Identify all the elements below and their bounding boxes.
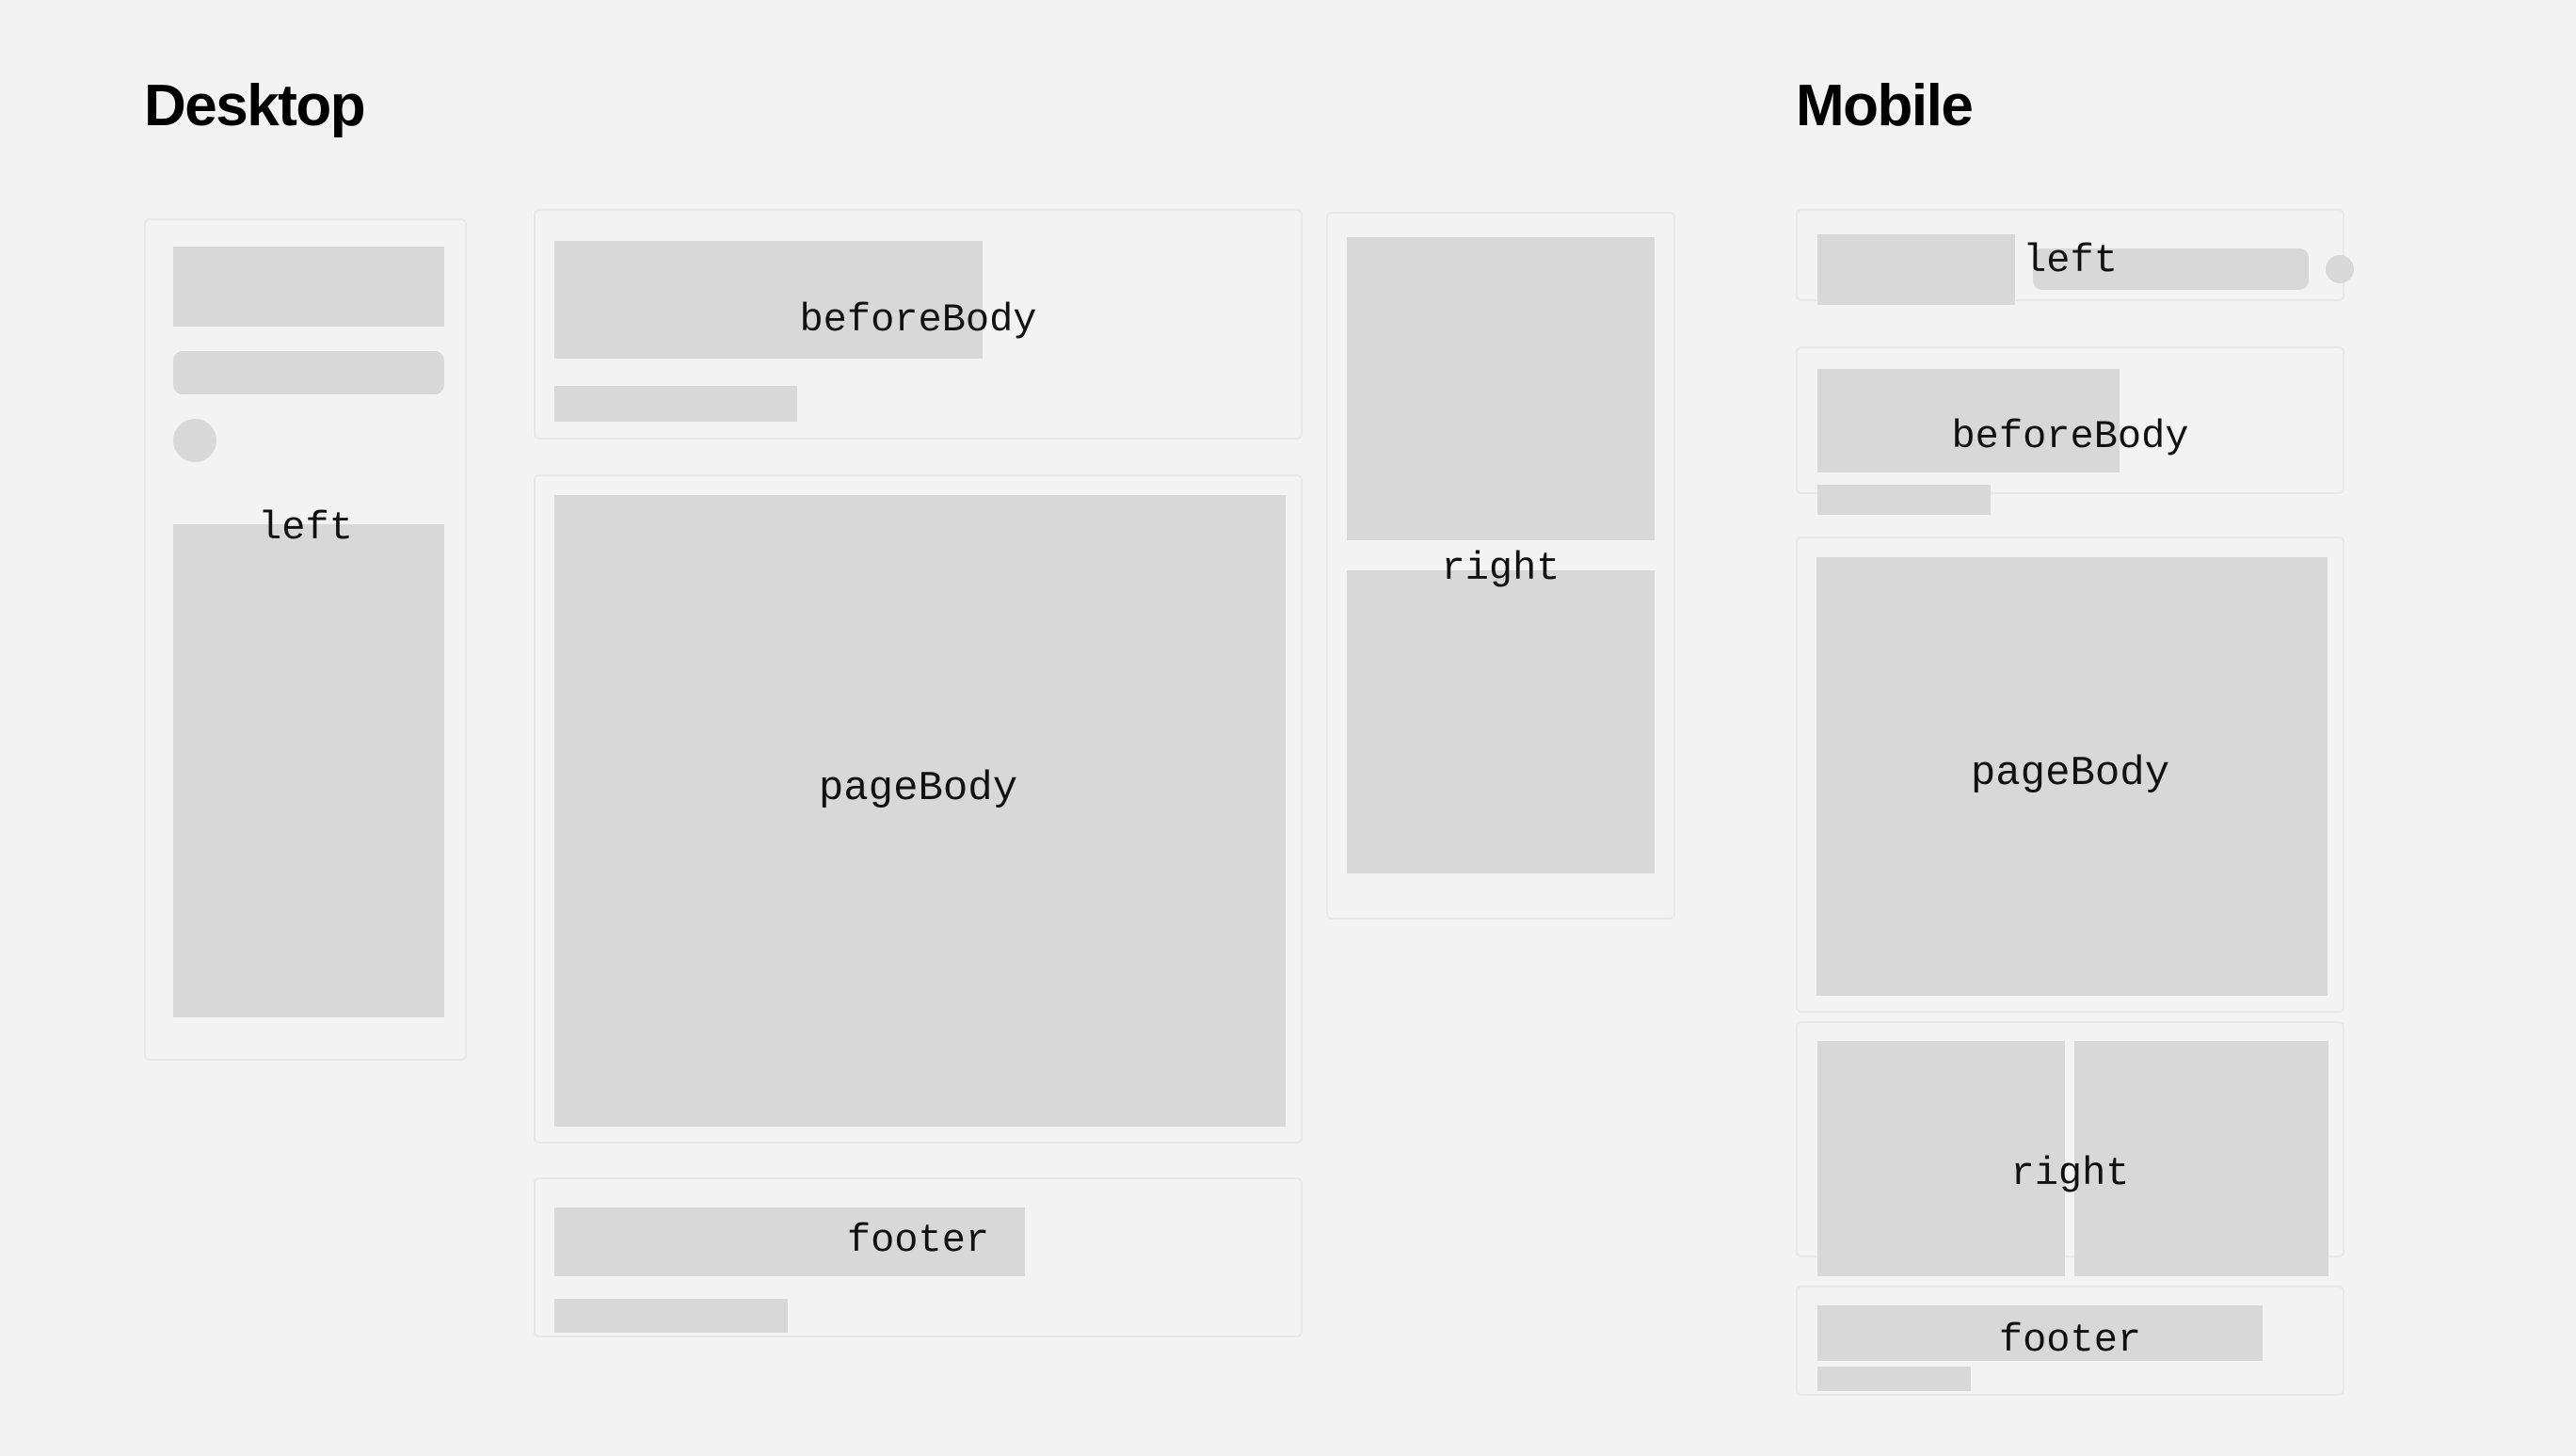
placeholder-block [1817,234,2015,305]
placeholder-block [554,386,797,422]
placeholder-block [1817,369,2120,472]
desktop-slot-beforebody-panel[interactable] [534,209,1303,440]
placeholder-block [554,1299,788,1333]
placeholder-block [173,524,444,1017]
placeholder-block [1817,1041,2065,1276]
placeholder-block [1817,1367,1971,1391]
placeholder-block [2033,248,2309,290]
placeholder-avatar-circle [2326,255,2354,283]
desktop-slot-left-panel[interactable] [144,218,467,1061]
placeholder-block [173,351,444,394]
placeholder-block [1347,570,1655,873]
placeholder-avatar-circle [173,419,216,462]
placeholder-block [1817,1305,2263,1361]
placeholder-block [554,495,1286,1127]
desktop-slot-pagebody-panel[interactable] [534,474,1303,1144]
desktop-section-title: Desktop [144,77,364,136]
desktop-slot-footer-panel[interactable] [534,1177,1303,1337]
layout-preview-canvas: Desktop left beforeBody pageBody right f… [0,0,2576,1456]
placeholder-block [554,1208,1025,1276]
placeholder-block [1817,485,1991,515]
placeholder-block [1816,557,2328,996]
placeholder-block [1347,237,1655,540]
mobile-slot-right-panel[interactable] [1796,1021,2344,1257]
mobile-section-title: Mobile [1796,77,1972,136]
mobile-slot-pagebody-panel[interactable] [1796,536,2344,1013]
desktop-slot-right-panel[interactable] [1326,212,1675,920]
mobile-slot-footer-panel[interactable] [1796,1286,2344,1396]
placeholder-block [173,247,444,327]
mobile-slot-left-panel[interactable] [1796,209,2344,301]
placeholder-block [2074,1041,2328,1276]
mobile-slot-beforebody-panel[interactable] [1796,346,2344,494]
placeholder-block [554,241,983,359]
